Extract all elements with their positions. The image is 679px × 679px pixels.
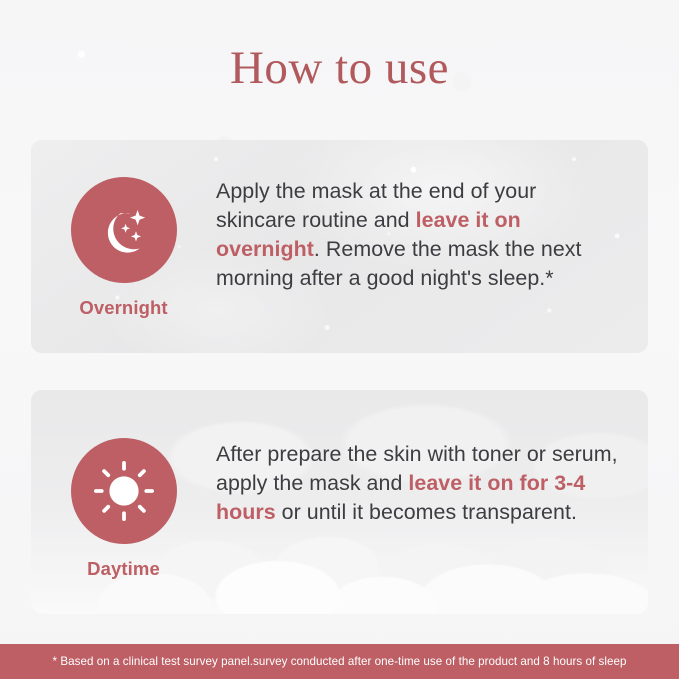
how-to-use-panel: How to use Overnight Apply the mask at t… [0, 0, 679, 679]
daytime-instruction-text: After prepare the skin with toner or ser… [216, 390, 648, 527]
instruction-card-overnight: Overnight Apply the mask at the end of y… [31, 140, 648, 353]
daytime-badge [71, 438, 177, 544]
overnight-label: Overnight [79, 297, 167, 319]
crescent-moon-stars-icon [92, 198, 156, 262]
daytime-icon-column: Daytime [31, 390, 216, 580]
overnight-badge [71, 177, 177, 283]
page-title: How to use [0, 44, 679, 93]
overnight-instruction-text: Apply the mask at the end of your skinca… [216, 140, 648, 293]
sun-icon [89, 456, 159, 526]
footer-disclaimer-text: * Based on a clinical test survey panel.… [53, 655, 627, 668]
daytime-label: Daytime [87, 558, 160, 580]
overnight-icon-column: Overnight [31, 140, 216, 319]
daytime-text-part-3: or until it becomes transparent. [276, 500, 577, 524]
instruction-card-daytime: Daytime After prepare the skin with tone… [31, 390, 648, 614]
footer-disclaimer-bar: * Based on a clinical test survey panel.… [0, 644, 679, 679]
